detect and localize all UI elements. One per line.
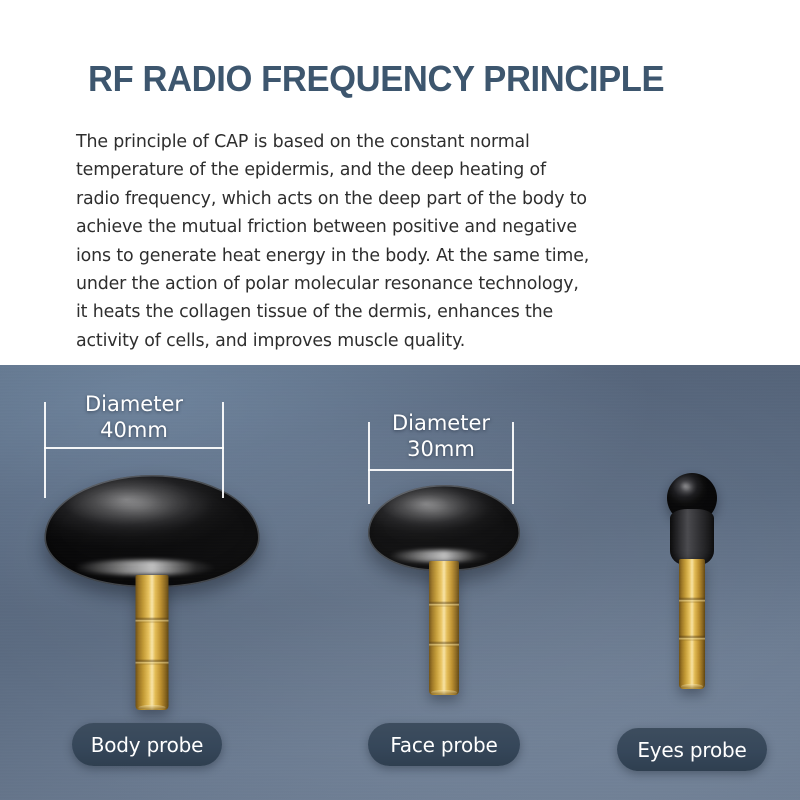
stem-ring xyxy=(429,641,459,647)
stem-tip xyxy=(681,684,703,689)
page-title: RF RADIO FREQUENCY PRINCIPLE xyxy=(88,58,702,100)
paragraph-line: temperature of the epidermis, and the de… xyxy=(76,156,726,184)
paragraph-line: achieve the mutual friction between posi… xyxy=(76,213,726,241)
stem-glint xyxy=(151,575,154,710)
face-probe-head xyxy=(368,485,520,571)
paragraph-line: The principle of CAP is based on the con… xyxy=(76,128,726,156)
body-probe-caption-pill: Body probe xyxy=(72,723,222,766)
stem-glint xyxy=(443,561,445,695)
stem-glint xyxy=(691,559,693,689)
principle-paragraph: The principle of CAP is based on the con… xyxy=(76,128,726,355)
stem-ring xyxy=(679,635,705,641)
paragraph-line: radio frequency, which acts on the deep … xyxy=(76,185,726,213)
paragraph-line: activity of cells, and improves muscle q… xyxy=(76,327,726,355)
eyes-probe-caption-pill: Eyes probe xyxy=(617,728,767,771)
stem-ring xyxy=(136,617,169,623)
stem-tip xyxy=(431,690,456,695)
paragraph-line: ions to generate heat energy in the body… xyxy=(76,242,726,270)
paragraph-line: it heats the collagen tissue of the derm… xyxy=(76,298,726,326)
paragraph-line: under the action of polar molecular reso… xyxy=(76,270,726,298)
body-probe-head xyxy=(45,475,260,587)
stem-ring xyxy=(429,601,459,607)
body-probe-stem xyxy=(136,575,169,710)
face-probe-stem xyxy=(429,561,459,695)
product-info-page: RF RADIO FREQUENCY PRINCIPLE The princip… xyxy=(0,0,800,800)
eyes-probe-collar xyxy=(670,509,714,565)
face-probe-caption-pill: Face probe xyxy=(368,723,520,766)
eyes-probe-stem xyxy=(679,559,705,689)
text-section: RF RADIO FREQUENCY PRINCIPLE The princip… xyxy=(0,0,800,365)
eyes-probe xyxy=(640,473,744,763)
stem-ring xyxy=(136,659,169,665)
stem-tip xyxy=(138,705,166,710)
stem-ring xyxy=(679,597,705,603)
